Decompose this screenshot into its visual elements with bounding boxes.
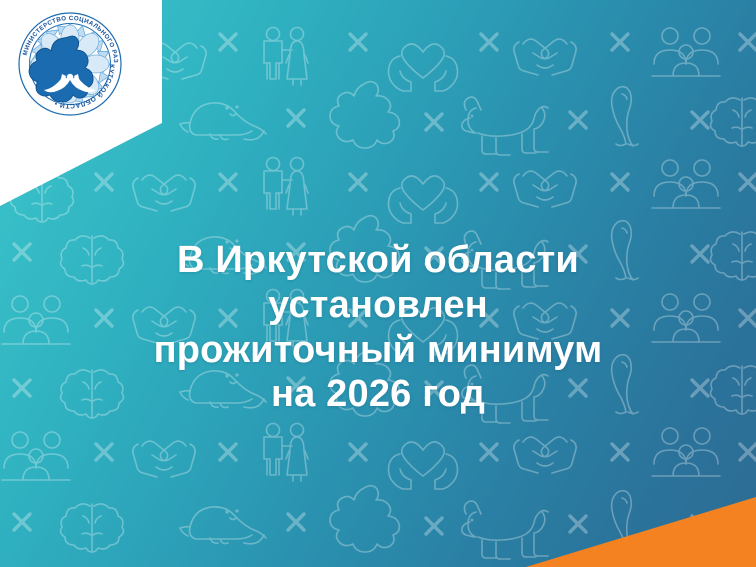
orange-accent-corner bbox=[526, 497, 756, 567]
headline-line-1: В Иркутской области bbox=[46, 238, 710, 283]
headline-line-4: на 2026 год bbox=[46, 372, 710, 417]
banner-root: МИНИСТЕРСТВО СОЦИАЛЬНОГО РАЗВИТИЯ, ОПЕКИ… bbox=[0, 0, 756, 567]
pattern-row-1 bbox=[144, 28, 756, 92]
headline-line-3: прожиточный минимум bbox=[46, 328, 710, 373]
pattern-row-3 bbox=[11, 158, 756, 224]
headline-line-2: установлен bbox=[46, 283, 710, 328]
pattern-row-2 bbox=[180, 82, 756, 155]
pattern-row-7 bbox=[2, 424, 756, 490]
ministry-emblem: МИНИСТЕРСТВО СОЦИАЛЬНОГО РАЗВИТИЯ, ОПЕКИ… bbox=[16, 10, 124, 118]
page-title: В Иркутской области установлен прожиточн… bbox=[0, 238, 756, 417]
